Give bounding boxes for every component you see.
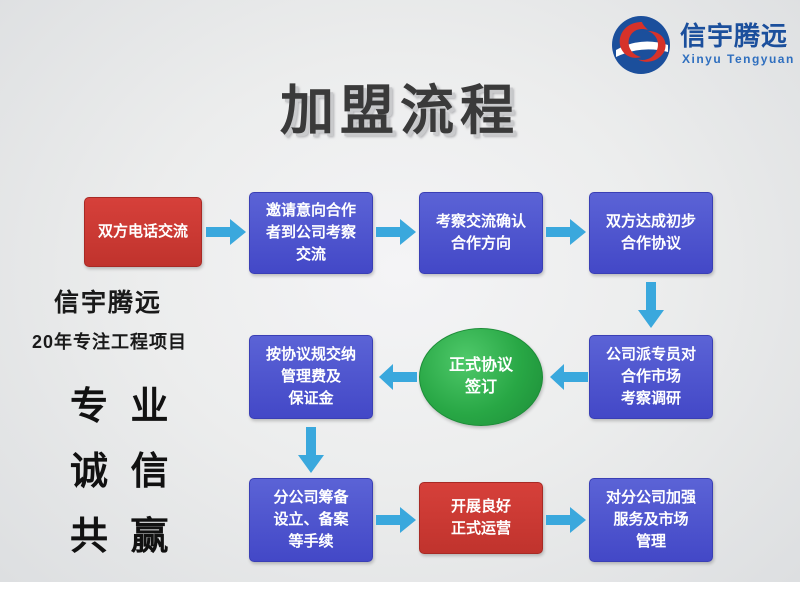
- flow-node-strengthen-service[interactable]: 对分公司加强 服务及市场 管理: [589, 478, 713, 562]
- slogan-word-zhuanye: 专 业: [70, 375, 175, 430]
- arrow-right-n2-n3: [376, 219, 416, 245]
- flow-node-start-operation[interactable]: 开展良好 正式运营: [419, 482, 543, 554]
- flow-node-invite-visit[interactable]: 邀请意向合作 者到公司考察 交流: [249, 192, 373, 274]
- slogan-word-chengxin: 诚 信: [70, 440, 175, 495]
- flow-node-branch-setup[interactable]: 分公司筹备 设立、备案 等手续: [249, 478, 373, 562]
- arrow-down-n7-n8: [298, 427, 324, 473]
- arrow-right-n8-n9: [376, 507, 416, 533]
- arrow-right-n1-n2: [206, 219, 246, 245]
- footer-bar: [0, 582, 800, 600]
- page-title: 加盟流程: [0, 66, 800, 145]
- logo-name-en: Xinyu Tengyuan: [682, 52, 795, 66]
- arrow-left-n6-n7: [379, 364, 417, 390]
- flow-node-preliminary-agreement[interactable]: 双方达成初步 合作协议: [589, 192, 713, 274]
- flow-node-confirm-direction[interactable]: 考察交流确认 合作方向: [419, 192, 543, 274]
- flow-node-market-research[interactable]: 公司派专员对 合作市场 考察调研: [589, 335, 713, 419]
- arrow-left-n5-n6: [550, 364, 588, 390]
- slide-canvas: 信宇腾远 Xinyu Tengyuan 加盟流程 信宇腾远 20年专注工程项目 …: [0, 0, 800, 600]
- flow-node-pay-fees[interactable]: 按协议规交纳 管理费及 保证金: [249, 335, 373, 419]
- logo-name-cn: 信宇腾远: [680, 16, 788, 53]
- slogan-subtitle: 20年专注工程项目: [32, 328, 187, 354]
- slogan-brand: 信宇腾远: [54, 283, 162, 319]
- slogan-word-gongying: 共 赢: [70, 505, 175, 560]
- flow-node-phone-contact[interactable]: 双方电话交流: [84, 197, 202, 267]
- arrow-right-n3-n4: [546, 219, 586, 245]
- arrow-down-n4-n5: [638, 282, 664, 328]
- flow-node-formal-signing[interactable]: 正式协议 签订: [419, 328, 543, 426]
- arrow-right-n9-n10: [546, 507, 586, 533]
